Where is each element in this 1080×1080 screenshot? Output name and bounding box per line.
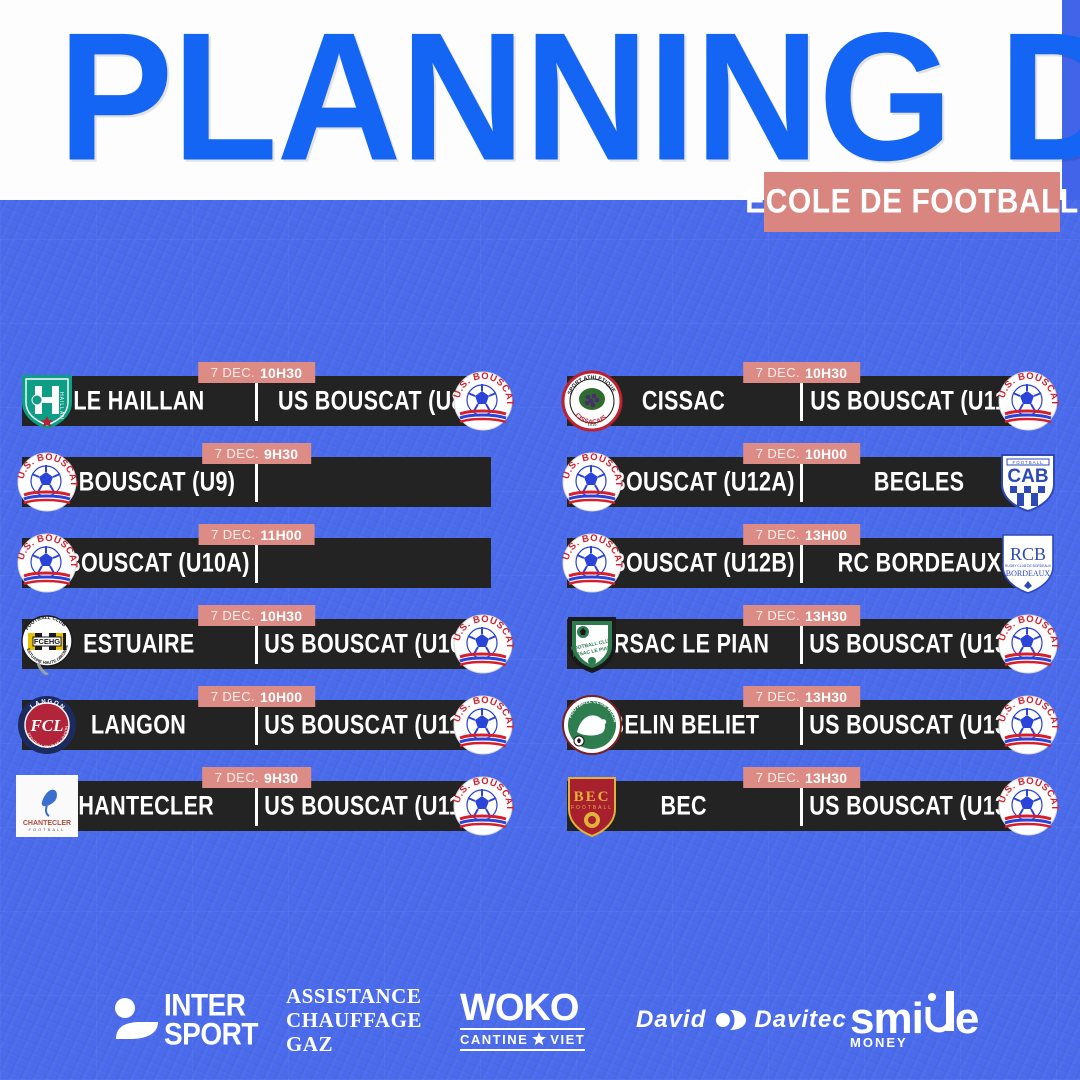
match-bar: ARSAC LE PIANUS BOUSCAT (U13A)	[567, 619, 1036, 669]
acg-line3: GAZ	[286, 1032, 422, 1056]
home-team-name: CISSAC	[642, 385, 725, 417]
svg-text:RCB: RCB	[1010, 544, 1046, 564]
davitec-icon	[712, 1007, 748, 1033]
us-bouscat-logo: U.S. BOUSCAT	[997, 370, 1059, 432]
home-team-crest: BEC FOOTBALL	[561, 775, 623, 837]
away-team	[258, 457, 491, 507]
us-bouscat-logo: U.S. BOUSCAT	[16, 532, 78, 594]
match-row[interactable]: US BOUSCAT (U9)7 DEC.9H30 U.S. BOUSCAT	[0, 443, 513, 497]
home-team-name: LE HAILLAN	[73, 385, 204, 417]
match-time: 9H30	[264, 770, 298, 786]
match-time: 13H00	[805, 527, 847, 543]
away-team-crest: U.S. BOUSCAT	[452, 694, 514, 756]
svg-text:FCEHG: FCEHG	[34, 637, 60, 646]
us-bouscat-logo: U.S. BOUSCAT	[452, 370, 514, 432]
home-team-name: LANGON	[91, 709, 186, 741]
woko-line3: VIET	[550, 1032, 585, 1047]
away-team-name: RC BORDEAUX	[838, 547, 1002, 579]
svg-text:BORDEAUX: BORDEAUX	[1006, 569, 1051, 578]
match-datetime-badge: 7 DEC.10H30	[198, 362, 316, 383]
match-row[interactable]: US BOUSCAT (U12B)RC BORDEAUX7 DEC.13H00 …	[545, 524, 1058, 578]
match-date: 7 DEC.	[211, 689, 255, 704]
category-badge-label: ECOLE DE FOOTBALL	[745, 182, 1079, 221]
away-team-crest: U.S. BOUSCAT	[997, 370, 1059, 432]
intersport-line1: INTER	[164, 991, 258, 1020]
home-team-crest: U.S. BOUSCAT	[16, 451, 78, 513]
home-team-name: ESTUAIRE	[83, 628, 194, 660]
acg-line1: ASSISTANCE	[286, 984, 422, 1008]
away-team-name: US BOUSCAT (U11F)	[811, 385, 1029, 417]
us-bouscat-logo: U.S. BOUSCAT	[997, 775, 1059, 837]
home-team-crest: FOOTBALL CLUB BELIN BELIET	[561, 694, 623, 756]
arsac-le-pian-logo: FOOTBALL CLUB ARSAC LE PIAN	[561, 613, 623, 675]
match-datetime-badge: 7 DEC.11H00	[198, 524, 315, 545]
match-bar: US BOUSCAT (U12B)RC BORDEAUX	[567, 538, 1036, 588]
star-icon	[532, 1032, 546, 1046]
us-bouscat-logo: U.S. BOUSCAT	[997, 694, 1059, 756]
home-team-crest: CHANTECLER FOOTBALL	[16, 775, 78, 837]
smile-line1: smi	[850, 999, 923, 1039]
woko-line2: CANTINE	[460, 1032, 528, 1047]
smile-arc-icon	[924, 991, 954, 1037]
match-bar: BECUS BOUSCAT (U13C)	[567, 781, 1036, 831]
match-date: 7 DEC.	[211, 608, 255, 623]
match-date: 7 DEC.	[756, 608, 800, 623]
away-team	[258, 538, 491, 588]
schedule-column-right: CISSACUS BOUSCAT (U11F)7 DEC.10H30 SPORT…	[545, 362, 1080, 862]
home-team-crest: HAILLAN	[16, 370, 78, 432]
match-time: 10H30	[260, 365, 302, 381]
us-bouscat-logo: U.S. BOUSCAT	[997, 613, 1059, 675]
us-bouscat-logo: U.S. BOUSCAT	[452, 775, 514, 837]
sponsor-david-davitec[interactable]: David Davitec	[636, 975, 847, 1065]
svg-text:BEC: BEC	[574, 789, 611, 805]
match-time: 10H30	[805, 365, 847, 381]
match-time: 10H00	[260, 689, 302, 705]
away-team-crest: U.S. BOUSCAT	[452, 613, 514, 675]
match-datetime-badge: 7 DEC.13H30	[743, 767, 861, 788]
match-row[interactable]: ESTUAIREUS BOUSCAT (U10B)7 DEC.10H30 FCE…	[0, 605, 513, 659]
header: PLANNING DU WEEK-END	[0, 0, 1080, 200]
away-team-crest: U.S. BOUSCAT	[997, 694, 1059, 756]
intersport-icon	[112, 995, 164, 1045]
acg-wordmark: ASSISTANCE CHAUFFAGE GAZ	[286, 984, 422, 1056]
home-team-crest: FOOTBALL CLUB ARSAC LE PIAN	[561, 613, 623, 675]
match-datetime-badge: 7 DEC.13H30	[743, 605, 861, 626]
home-team-name: CHANTECLER	[63, 790, 214, 822]
away-team-crest: RCB RUGBY CLUB DE BORDEAUX BORDEAUX	[997, 532, 1059, 594]
match-date: 7 DEC.	[211, 365, 255, 380]
match-row[interactable]: BELIN BELIETUS BOUSCAT (U13B)7 DEC.13H30…	[545, 686, 1058, 740]
us-bouscat-logo: U.S. BOUSCAT	[452, 613, 514, 675]
match-date: 7 DEC.	[756, 446, 800, 461]
fcehg-logo: FCEHG FOOTBALL CLUB ESTUAIRE HAUTE GIRON…	[16, 613, 78, 675]
home-team-crest: U.S. BOUSCAT	[561, 451, 623, 513]
match-bar: US BOUSCAT (U12A)BEGLES	[567, 457, 1036, 507]
sponsor-smile-money[interactable]: smi e MONEY	[850, 975, 978, 1065]
svg-text:RUGBY CLUB DE BORDEAUX: RUGBY CLUB DE BORDEAUX	[1005, 564, 1052, 568]
poster-canvas: PLANNING DU WEEK-END ECOLE DE FOOTBALL L…	[0, 0, 1080, 1080]
sponsor-bar: INTER SPORT ASSISTANCE CHAUFFAGE GAZ WOK…	[0, 975, 1080, 1065]
match-date: 7 DEC.	[756, 689, 800, 704]
woko-line1: WOKO	[460, 990, 585, 1026]
svg-text:FOOTBALL: FOOTBALL	[571, 805, 613, 811]
acg-line2: CHAUFFAGE	[286, 1008, 422, 1032]
match-bar: US BOUSCAT (U10A)	[22, 538, 491, 588]
us-bouscat-logo: U.S. BOUSCAT	[452, 694, 514, 756]
match-date: 7 DEC.	[215, 446, 259, 461]
home-team-crest: U.S. BOUSCAT	[561, 532, 623, 594]
away-team-name: US BOUSCAT (U8)	[278, 385, 471, 417]
svg-text:FOOTBALL: FOOTBALL	[1013, 460, 1044, 465]
schedule-column-left: LE HAILLANUS BOUSCAT (U8)7 DEC.10H30 HAI…	[0, 362, 535, 862]
match-row[interactable]: CHANTECLERUS BOUSCAT (U11B)7 DEC.9H30 CH…	[0, 767, 513, 821]
away-team-crest: U.S. BOUSCAT	[997, 775, 1059, 837]
schedule-grid: LE HAILLANUS BOUSCAT (U8)7 DEC.10H30 HAI…	[0, 362, 1080, 862]
match-datetime-badge: 7 DEC.10H30	[198, 605, 316, 626]
match-datetime-badge: 7 DEC.13H00	[743, 524, 861, 545]
svg-text:CAB: CAB	[1007, 466, 1048, 487]
us-bouscat-logo: U.S. BOUSCAT	[16, 451, 78, 513]
svg-text:CHANTECLER: CHANTECLER	[23, 820, 71, 827]
match-row[interactable]: ARSAC LE PIANUS BOUSCAT (U13A)7 DEC.13H3…	[545, 605, 1058, 659]
match-bar: LANGONUS BOUSCAT (U11A)	[22, 700, 491, 750]
away-team-crest: U.S. BOUSCAT	[452, 370, 514, 432]
match-time: 10H30	[260, 608, 302, 624]
match-row[interactable]: BECUS BOUSCAT (U13C)7 DEC.13H30 BEC FOOT…	[545, 767, 1058, 821]
match-datetime-badge: 7 DEC.10H00	[743, 443, 861, 464]
match-bar: US BOUSCAT (U9)	[22, 457, 491, 507]
cissac-logo: SPORT ATHLETIQUE CISSACAIS 1919	[561, 370, 623, 432]
home-team-name: ARSAC LE PIAN	[598, 628, 770, 660]
away-team-crest: U.S. BOUSCAT	[997, 613, 1059, 675]
match-row[interactable]: CISSACUS BOUSCAT (U11F)7 DEC.10H30 SPORT…	[545, 362, 1058, 416]
match-bar: CISSACUS BOUSCAT (U11F)	[567, 376, 1036, 426]
match-datetime-badge: 7 DEC.9H30	[202, 443, 312, 464]
sponsor-woko[interactable]: WOKO CANTINE VIET	[460, 975, 585, 1065]
smile-line2: e	[955, 999, 978, 1039]
match-time: 13H30	[805, 689, 847, 705]
category-badge: ECOLE DE FOOTBALL	[764, 172, 1060, 232]
sponsor-assistance-chauffage-gaz[interactable]: ASSISTANCE CHAUFFAGE GAZ	[286, 975, 422, 1065]
match-date: 7 DEC.	[756, 770, 800, 785]
match-time: 10H00	[805, 446, 847, 462]
home-team-crest: FCEHG FOOTBALL CLUB ESTUAIRE HAUTE GIRON…	[16, 613, 78, 675]
davitec-line2: Davitec	[754, 1006, 846, 1034]
match-bar: CHANTECLERUS BOUSCAT (U11B)	[22, 781, 491, 831]
rcb-bordeaux-logo: RCB RUGBY CLUB DE BORDEAUX BORDEAUX	[997, 532, 1059, 594]
match-date: 7 DEC.	[215, 770, 259, 785]
chantecler-logo: CHANTECLER FOOTBALL	[16, 775, 78, 837]
svg-text:FOOTBALL: FOOTBALL	[29, 827, 66, 832]
home-team-crest: FCL LANGON FOOTBALL CLUB DE LANGONNAIS	[16, 694, 78, 756]
match-time: 9H30	[264, 446, 298, 462]
match-row[interactable]: LANGONUS BOUSCAT (U11A)7 DEC.10H00 FCL L…	[0, 686, 513, 740]
belin-beliet-logo: FOOTBALL CLUB BELIN BELIET	[561, 694, 623, 756]
match-date: 7 DEC.	[211, 527, 255, 542]
le-haillan-logo: HAILLAN	[16, 370, 78, 432]
match-row[interactable]: LE HAILLANUS BOUSCAT (U8)7 DEC.10H30 HAI…	[0, 362, 513, 416]
match-datetime-badge: 7 DEC.9H30	[202, 767, 312, 788]
match-time: 11H00	[260, 527, 301, 543]
davitec-line1: David	[636, 1006, 706, 1034]
match-datetime-badge: 7 DEC.10H00	[198, 686, 316, 707]
match-row[interactable]: US BOUSCAT (U10A)7 DEC.11H00 U.S. BOUSCA…	[0, 524, 513, 578]
langon-logo: FCL LANGON FOOTBALL CLUB DE LANGONNAIS	[16, 694, 78, 756]
home-team-crest: SPORT ATHLETIQUE CISSACAIS 1919	[561, 370, 623, 432]
woko-wordmark: WOKO CANTINE VIET	[460, 990, 585, 1051]
away-team-name: BEGLES	[874, 466, 964, 498]
home-team-name: BEC	[660, 790, 706, 822]
us-bouscat-logo: U.S. BOUSCAT	[561, 451, 623, 513]
us-bouscat-logo: U.S. BOUSCAT	[561, 532, 623, 594]
match-date: 7 DEC.	[756, 365, 800, 380]
sponsor-intersport[interactable]: INTER SPORT	[112, 975, 258, 1065]
match-datetime-badge: 7 DEC.13H30	[743, 686, 861, 707]
svg-text:1919: 1919	[588, 422, 598, 427]
away-team-crest: FOOTBALL CAB	[997, 451, 1059, 513]
match-bar: LE HAILLANUS BOUSCAT (U8)	[22, 376, 491, 426]
match-time: 13H30	[805, 770, 847, 786]
match-time: 13H30	[805, 608, 847, 624]
smile-wordmark: smi e MONEY	[850, 991, 978, 1050]
match-date: 7 DEC.	[756, 527, 800, 542]
intersport-wordmark: INTER SPORT	[164, 991, 258, 1049]
intersport-line2: SPORT	[164, 1020, 258, 1049]
away-team-crest: U.S. BOUSCAT	[452, 775, 514, 837]
match-bar: BELIN BELIETUS BOUSCAT (U13B)	[567, 700, 1036, 750]
match-row[interactable]: US BOUSCAT (U12A)BEGLES7 DEC.10H00 U.S. …	[545, 443, 1058, 497]
match-datetime-badge: 7 DEC.10H30	[743, 362, 861, 383]
svg-text:FCL: FCL	[29, 716, 63, 735]
bec-logo: BEC FOOTBALL	[561, 775, 623, 837]
home-team-name: BELIN BELIET	[608, 709, 759, 741]
woko-tagline: CANTINE VIET	[460, 1028, 585, 1051]
match-bar: ESTUAIREUS BOUSCAT (U10B)	[22, 619, 491, 669]
cab-begles-logo: FOOTBALL CAB	[997, 451, 1059, 513]
svg-text:HAILLAN: HAILLAN	[58, 392, 64, 420]
home-team-crest: U.S. BOUSCAT	[16, 532, 78, 594]
